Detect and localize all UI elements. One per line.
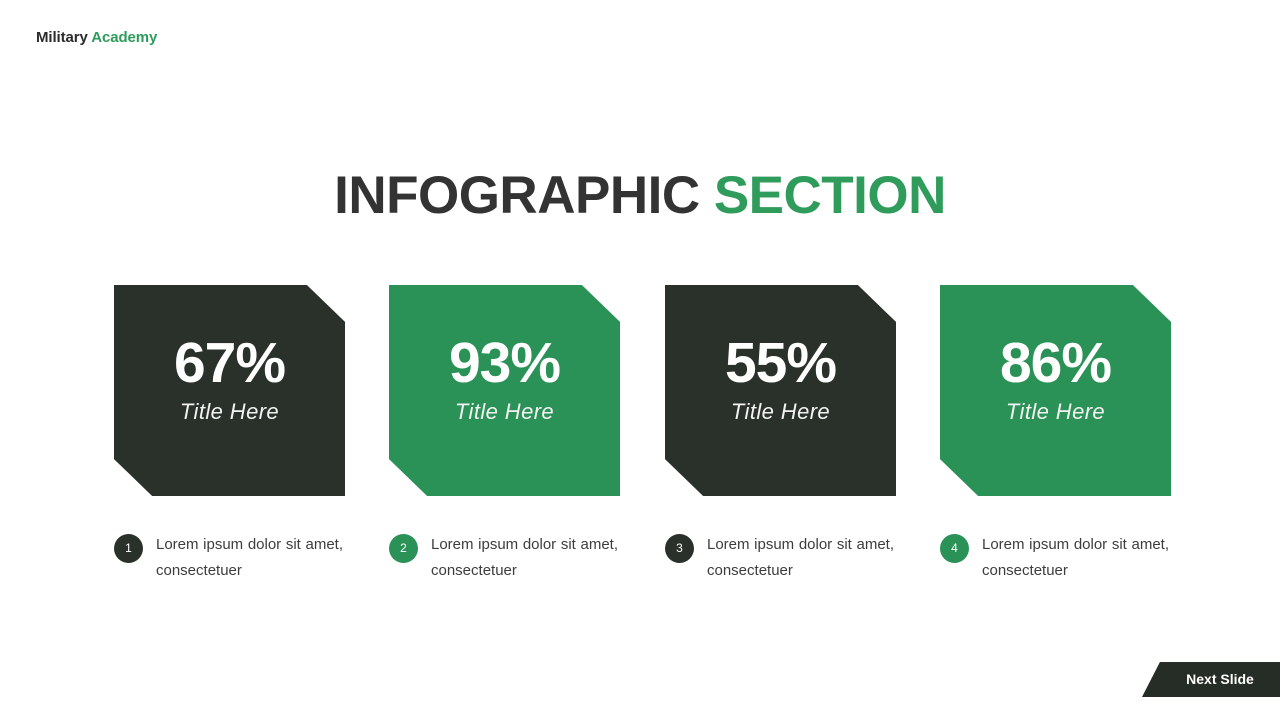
caption-number-badge: 2 [389,534,418,563]
infographic-card[interactable]: 86% Title Here [940,285,1171,496]
infographic-card[interactable]: 67% Title Here [114,285,345,496]
page-header: Military Academy Discover Project Milita… [0,0,1280,78]
caption-number-badge: 3 [665,534,694,563]
brand-name-second: Academy [91,29,157,46]
card-percent-value: 67% [174,333,285,393]
caption-row: 1 Lorem ipsum dolor sit amet, consectetu… [114,532,1184,602]
infographic-card-row: 67% Title Here 93% Title Here 55% Title … [114,285,1171,496]
caption-text: Lorem ipsum dolor sit amet, consectetuer [156,532,343,610]
brand-logo[interactable]: Military Academy [36,29,157,46]
brand-name-first: Military [36,29,88,46]
caption-number-badge: 1 [114,534,143,563]
card-title: Title Here [731,399,830,425]
card-percent-value: 55% [725,333,836,393]
card-percent-value: 86% [1000,333,1111,393]
card-title: Title Here [180,399,279,425]
infographic-card[interactable]: 55% Title Here [665,285,896,496]
page-title-primary: INFOGRAPHIC [334,166,700,225]
caption-text: Lorem ipsum dolor sit amet, consectetuer [982,532,1169,610]
infographic-card[interactable]: 93% Title Here [389,285,620,496]
caption-text: Lorem ipsum dolor sit amet, consectetuer [431,532,618,610]
card-title: Title Here [455,399,554,425]
caption-number-badge: 4 [940,534,969,563]
caption-text: Lorem ipsum dolor sit amet, consectetuer [707,532,894,610]
page-title-accent: SECTION [714,166,946,225]
page-title: INFOGRAPHIC SECTION [0,166,1280,226]
card-percent-value: 93% [449,333,560,393]
card-title: Title Here [1006,399,1105,425]
next-slide-button[interactable]: Next Slide [1142,662,1280,697]
